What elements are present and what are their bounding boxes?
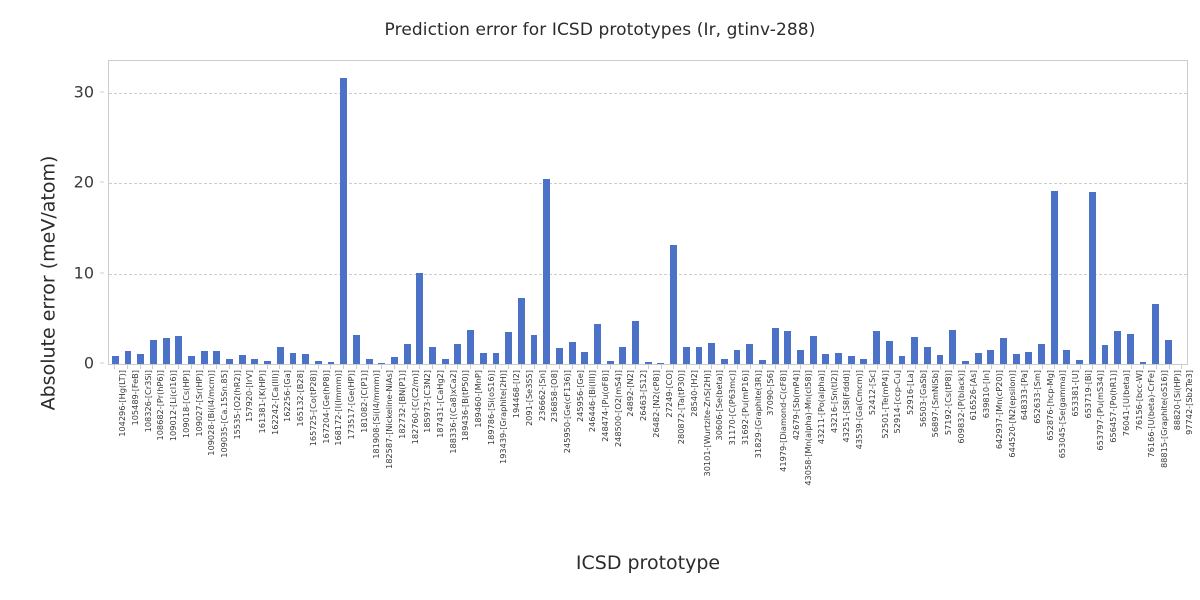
bar[interactable] bbox=[163, 338, 170, 364]
bar-slot bbox=[540, 61, 553, 364]
bar-slot bbox=[642, 61, 655, 364]
x-tick-mark bbox=[699, 365, 700, 369]
x-tick-slot: 189460-[MnP] bbox=[464, 365, 477, 525]
x-tick-mark bbox=[838, 365, 839, 369]
bar-slot bbox=[908, 61, 921, 364]
bar[interactable] bbox=[429, 347, 436, 364]
x-tick-slot: 280872-[Ta(tP30)] bbox=[667, 365, 680, 525]
bar-slot bbox=[1111, 61, 1124, 364]
x-tick-slot: 24892-[N2] bbox=[616, 365, 629, 525]
bar[interactable] bbox=[987, 350, 994, 364]
bar[interactable] bbox=[1114, 331, 1121, 364]
bar-slot bbox=[325, 61, 338, 364]
x-tick-mark bbox=[1156, 365, 1157, 369]
x-tick-mark bbox=[724, 365, 725, 369]
x-tick-mark bbox=[1016, 365, 1017, 369]
bar[interactable] bbox=[683, 347, 690, 364]
x-tick-mark bbox=[419, 365, 420, 369]
y-tick-label: 10 bbox=[74, 263, 94, 282]
bar[interactable] bbox=[150, 340, 157, 364]
x-tick-slot: 43251-[S8(Fddd)] bbox=[832, 365, 845, 525]
bar-slot bbox=[198, 61, 211, 364]
x-tick-slot: 52914-[ccp-Cu] bbox=[883, 365, 896, 525]
x-tick-mark bbox=[584, 365, 585, 369]
x-tick-slot: 653797-[Pu(mS34)] bbox=[1086, 365, 1099, 525]
x-tick-mark bbox=[546, 365, 547, 369]
y-tick-label: 30 bbox=[74, 82, 94, 101]
x-tick-slot: 30101-[Wurtzite-ZnS(2H)] bbox=[692, 365, 705, 525]
bar[interactable] bbox=[239, 355, 246, 364]
bar-slot bbox=[1048, 61, 1061, 364]
bar[interactable] bbox=[886, 341, 893, 364]
x-tick-slot: 161381-[K(HP)] bbox=[248, 365, 261, 525]
x-tick-mark bbox=[1143, 365, 1144, 369]
x-tick-mark bbox=[534, 365, 535, 369]
x-tick-slot: 76041-[U(beta)] bbox=[1112, 365, 1125, 525]
x-tick-slot: 2091-[Se3S5] bbox=[515, 365, 528, 525]
bar-series bbox=[109, 61, 1187, 364]
bar[interactable] bbox=[1063, 350, 1070, 364]
bar[interactable] bbox=[404, 344, 411, 364]
bar[interactable] bbox=[784, 331, 791, 364]
bar-slot bbox=[1086, 61, 1099, 364]
x-tick-mark bbox=[661, 365, 662, 369]
bar-slot bbox=[946, 61, 959, 364]
x-tick-mark bbox=[368, 365, 369, 369]
bar-slot bbox=[680, 61, 693, 364]
bar-slot bbox=[211, 61, 224, 364]
bar[interactable] bbox=[581, 352, 588, 364]
bar-slot bbox=[350, 61, 363, 364]
x-tick-mark bbox=[635, 365, 636, 369]
bar[interactable] bbox=[708, 343, 715, 364]
x-tick-slot: 108326-[Cr3Si] bbox=[133, 365, 146, 525]
bar-slot bbox=[414, 61, 427, 364]
x-tick-mark bbox=[915, 365, 916, 369]
bar-slot bbox=[261, 61, 274, 364]
bar[interactable] bbox=[949, 330, 956, 364]
bar[interactable] bbox=[860, 359, 867, 364]
bar[interactable] bbox=[1013, 354, 1020, 364]
bar-slot bbox=[312, 61, 325, 364]
x-tick-mark bbox=[622, 365, 623, 369]
x-tick-slot: 56897-[SmNiSb] bbox=[921, 365, 934, 525]
x-tick-slot: 182760-[C(C2/m)] bbox=[400, 365, 413, 525]
y-tick-label: 0 bbox=[84, 354, 94, 373]
chart-figure: Prediction error for ICSD prototypes (Ir… bbox=[0, 0, 1200, 600]
x-tick-slot: 105489-[FeB] bbox=[121, 365, 134, 525]
bar[interactable] bbox=[480, 353, 487, 364]
bar[interactable] bbox=[759, 360, 766, 364]
x-tick-slot: 246446-[Bi(III)] bbox=[578, 365, 591, 525]
bar-slot bbox=[134, 61, 147, 364]
x-tick-mark bbox=[203, 365, 204, 369]
x-tick-slot: 56503-[GaSb] bbox=[908, 365, 921, 525]
x-tick-mark bbox=[254, 365, 255, 369]
x-tick-mark bbox=[508, 365, 509, 369]
bar-slot bbox=[1099, 61, 1112, 364]
bar[interactable] bbox=[1089, 192, 1096, 364]
x-tick-mark bbox=[559, 365, 560, 369]
x-tick-slot: 15535-[O2(hR2)] bbox=[222, 365, 235, 525]
x-tick-slot: 236858-[O8] bbox=[540, 365, 553, 525]
x-tick-slot: 165132-[B28] bbox=[286, 365, 299, 525]
x-tick-mark bbox=[762, 365, 763, 369]
bar[interactable] bbox=[569, 342, 576, 364]
bar-slot bbox=[984, 61, 997, 364]
x-tick-mark bbox=[229, 365, 230, 369]
x-tick-slot: 245956-[Ge] bbox=[565, 365, 578, 525]
bar[interactable] bbox=[911, 337, 918, 364]
x-tick-mark bbox=[445, 365, 446, 369]
bar[interactable] bbox=[1025, 352, 1032, 364]
bar[interactable] bbox=[822, 354, 829, 364]
x-tick-slot: 653381-[U] bbox=[1061, 365, 1074, 525]
bar[interactable] bbox=[1038, 344, 1045, 364]
x-tick-mark bbox=[1067, 365, 1068, 369]
bar-slot bbox=[490, 61, 503, 364]
x-tick-slot: 109018-[Cs(HP)] bbox=[172, 365, 185, 525]
bar[interactable] bbox=[366, 359, 373, 364]
x-tick-slot: 42679-[Sb(mP4)] bbox=[781, 365, 794, 525]
x-tick-mark bbox=[1181, 365, 1182, 369]
bar[interactable] bbox=[137, 354, 144, 364]
bar[interactable] bbox=[937, 355, 944, 364]
x-tick-mark bbox=[750, 365, 751, 369]
bar-slot bbox=[109, 61, 122, 364]
bar-slot bbox=[794, 61, 807, 364]
bar[interactable] bbox=[442, 359, 449, 364]
y-tick-mark bbox=[100, 91, 104, 92]
bar-slot bbox=[972, 61, 985, 364]
x-tick-slot: 109028-[Bi(I4/mcm)] bbox=[197, 365, 210, 525]
bar-slot bbox=[566, 61, 579, 364]
x-tick-slot: 656457-[Po(hR1)] bbox=[1099, 365, 1112, 525]
x-tick-slot: 248500-[O2(mS4)] bbox=[603, 365, 616, 525]
bar-slot bbox=[147, 61, 160, 364]
bar-slot bbox=[667, 61, 680, 364]
x-tick-slot: 109027-[Sr(HP)] bbox=[184, 365, 197, 525]
x-tick-slot: 97742-[Sb2Te3] bbox=[1175, 365, 1188, 525]
x-tick-mark bbox=[864, 365, 865, 369]
bar[interactable] bbox=[1152, 304, 1159, 364]
x-tick-slot: 26482-[N2(cP8)] bbox=[642, 365, 655, 525]
x-tick-slot: 37090-[S6] bbox=[756, 365, 769, 525]
bar[interactable] bbox=[632, 321, 639, 364]
x-tick-slot: 609832-[P(black)] bbox=[946, 365, 959, 525]
x-tick-slot: 162242-[Ca(III)] bbox=[260, 365, 273, 525]
x-tick-slot: 652633-[Sm] bbox=[1023, 365, 1036, 525]
x-tick-mark bbox=[851, 365, 852, 369]
x-tick-mark bbox=[495, 365, 496, 369]
bar-slot bbox=[477, 61, 490, 364]
x-tick-mark bbox=[673, 365, 674, 369]
bar-slot bbox=[655, 61, 668, 364]
x-tick-mark bbox=[470, 365, 471, 369]
x-tick-mark bbox=[165, 365, 166, 369]
bar[interactable] bbox=[746, 344, 753, 364]
bar[interactable] bbox=[201, 351, 208, 364]
x-tick-mark bbox=[1054, 365, 1055, 369]
x-tick-mark bbox=[521, 365, 522, 369]
x-tick-slot: 88815-[Graphite(oS16)] bbox=[1150, 365, 1163, 525]
bar[interactable] bbox=[277, 347, 284, 364]
x-tick-slot: 31829-[Graphite(3R)] bbox=[743, 365, 756, 525]
bar-slot bbox=[299, 61, 312, 364]
bar[interactable] bbox=[112, 356, 119, 364]
bar[interactable] bbox=[213, 351, 220, 364]
bar-slot bbox=[934, 61, 947, 364]
x-tick-slot: 52916-[La] bbox=[896, 365, 909, 525]
bar[interactable] bbox=[848, 356, 855, 364]
bar[interactable] bbox=[1140, 362, 1147, 364]
x-tick-slot: 642937-[Mn(cP20)] bbox=[985, 365, 998, 525]
bar-slot bbox=[807, 61, 820, 364]
bar-slot bbox=[172, 61, 185, 364]
x-tick-slot: 31692-[Pu(mP16)] bbox=[730, 365, 743, 525]
x-tick-slot: 189786-[Si(oS16)] bbox=[476, 365, 489, 525]
bar[interactable] bbox=[835, 353, 842, 364]
y-tick-mark bbox=[100, 272, 104, 273]
bar[interactable] bbox=[924, 347, 931, 364]
bar[interactable] bbox=[1165, 340, 1172, 364]
y-tick-label: 20 bbox=[74, 173, 94, 192]
bar[interactable] bbox=[810, 336, 817, 364]
bar[interactable] bbox=[797, 350, 804, 364]
bar-slot bbox=[604, 61, 617, 364]
bar[interactable] bbox=[188, 356, 195, 364]
x-tick-slot: 162256-[Ga] bbox=[273, 365, 286, 525]
x-tick-mark bbox=[610, 365, 611, 369]
x-tick-slot: 182732-[BN(P1)] bbox=[387, 365, 400, 525]
bar-slot bbox=[1124, 61, 1137, 364]
y-tick-mark bbox=[100, 182, 104, 183]
x-tick-mark bbox=[356, 365, 357, 369]
x-tick-slot: 27249-[CO] bbox=[654, 365, 667, 525]
x-tick-mark bbox=[318, 365, 319, 369]
bar[interactable] bbox=[315, 361, 322, 364]
bar[interactable] bbox=[226, 359, 233, 364]
bar[interactable] bbox=[531, 335, 538, 364]
bar[interactable] bbox=[493, 353, 500, 364]
x-tick-mark bbox=[457, 365, 458, 369]
bar[interactable] bbox=[454, 344, 461, 364]
bar[interactable] bbox=[899, 356, 906, 364]
x-tick-mark bbox=[1029, 365, 1030, 369]
x-tick-mark bbox=[1004, 365, 1005, 369]
bar-slot bbox=[363, 61, 376, 364]
bar[interactable] bbox=[264, 361, 271, 364]
x-tick-slot: 187431-[CaHg2] bbox=[426, 365, 439, 525]
x-tick-mark bbox=[953, 365, 954, 369]
x-axis: 104296-[Hg(LT)]105489-[FeB]108326-[Cr3Si… bbox=[108, 365, 1188, 525]
x-tick-mark bbox=[127, 365, 128, 369]
x-tick-slot: 157920-[IrV] bbox=[235, 365, 248, 525]
bar[interactable] bbox=[1076, 360, 1083, 364]
x-tick-slot: 109035-[Ca.15Sn.85] bbox=[210, 365, 223, 525]
y-tick-mark bbox=[100, 363, 104, 364]
bar[interactable] bbox=[607, 361, 614, 364]
bar-slot bbox=[591, 61, 604, 364]
bar-slot bbox=[236, 61, 249, 364]
x-tick-mark bbox=[191, 365, 192, 369]
x-tick-mark bbox=[216, 365, 217, 369]
x-tick-slot: 181082-[C(P1)] bbox=[349, 365, 362, 525]
bar-slot bbox=[832, 61, 845, 364]
bar[interactable] bbox=[657, 363, 664, 364]
bar-slot bbox=[426, 61, 439, 364]
x-tick-slot: 189436-[B(tP50)] bbox=[451, 365, 464, 525]
bar-slot bbox=[870, 61, 883, 364]
bar[interactable] bbox=[505, 332, 512, 364]
x-tick-slot: 188336-[(Ca8)xCa2] bbox=[438, 365, 451, 525]
bar[interactable] bbox=[696, 347, 703, 364]
x-tick-slot: 194468-[I2] bbox=[502, 365, 515, 525]
chart-title: Prediction error for ICSD prototypes (Ir… bbox=[0, 20, 1200, 40]
bar[interactable] bbox=[670, 245, 677, 364]
x-tick-slot: 28540-[H2] bbox=[680, 365, 693, 525]
x-tick-mark bbox=[152, 365, 153, 369]
bar[interactable] bbox=[391, 357, 398, 364]
bar-slot bbox=[858, 61, 871, 364]
bar-slot bbox=[883, 61, 896, 364]
x-tick-slot: 108682-[Pr(hP6)] bbox=[146, 365, 159, 525]
x-tick-mark bbox=[330, 365, 331, 369]
bar-slot bbox=[756, 61, 769, 364]
x-tick-slot: 173517-[Ge(HP)] bbox=[337, 365, 350, 525]
x-tick-label: 97742-[Sb2Te3] bbox=[1184, 370, 1194, 435]
bar[interactable] bbox=[1102, 345, 1109, 364]
x-tick-mark bbox=[1131, 365, 1132, 369]
x-tick-mark bbox=[1042, 365, 1043, 369]
x-tick-slot: 43216-[Sn(tI2)] bbox=[819, 365, 832, 525]
x-tick-slot: 31170-[C(P63mc)] bbox=[718, 365, 731, 525]
y-axis: Absolute error (meV/atom) 0102030 bbox=[0, 60, 104, 365]
x-tick-mark bbox=[1080, 365, 1081, 369]
x-tick-slot: 109012-[Li(cI16)] bbox=[159, 365, 172, 525]
bar[interactable] bbox=[467, 330, 474, 364]
bar-slot bbox=[274, 61, 287, 364]
bar-slot bbox=[1149, 61, 1162, 364]
x-tick-mark bbox=[813, 365, 814, 369]
bar-slot bbox=[553, 61, 566, 364]
bar-slot bbox=[122, 61, 135, 364]
bar[interactable] bbox=[975, 353, 982, 364]
x-tick-mark bbox=[877, 365, 878, 369]
bar[interactable] bbox=[302, 354, 309, 364]
bar-slot bbox=[375, 61, 388, 364]
bar-slot bbox=[401, 61, 414, 364]
x-tick-mark bbox=[178, 365, 179, 369]
bar-slot bbox=[845, 61, 858, 364]
bar[interactable] bbox=[734, 350, 741, 364]
bar-slot bbox=[743, 61, 756, 364]
x-tick-slot: 653719-[Bi] bbox=[1073, 365, 1086, 525]
bar[interactable] bbox=[175, 336, 182, 364]
bar[interactable] bbox=[619, 347, 626, 364]
bar[interactable] bbox=[1127, 334, 1134, 364]
x-tick-mark bbox=[902, 365, 903, 369]
bar[interactable] bbox=[353, 335, 360, 364]
bar[interactable] bbox=[1000, 338, 1007, 364]
x-tick-mark bbox=[927, 365, 928, 369]
bar[interactable] bbox=[962, 361, 969, 364]
x-tick-slot: 248474-[Pu(oF8)] bbox=[591, 365, 604, 525]
bar-slot bbox=[617, 61, 630, 364]
x-tick-mark bbox=[394, 365, 395, 369]
bar-slot bbox=[1073, 61, 1086, 364]
bar-slot bbox=[769, 61, 782, 364]
x-tick-slot: 168172-[I(Immm)] bbox=[324, 365, 337, 525]
x-tick-slot: 639810-[In] bbox=[972, 365, 985, 525]
x-tick-mark bbox=[305, 365, 306, 369]
bar[interactable] bbox=[251, 359, 258, 364]
bar[interactable] bbox=[772, 328, 779, 364]
bar-slot bbox=[464, 61, 477, 364]
bar[interactable] bbox=[543, 179, 550, 364]
y-axis-label: Absolute error (meV/atom) bbox=[38, 131, 60, 436]
bar-slot bbox=[1061, 61, 1074, 364]
x-tick-mark bbox=[711, 365, 712, 369]
bar-slot bbox=[705, 61, 718, 364]
x-tick-slot: 26463-[S12] bbox=[629, 365, 642, 525]
bar[interactable] bbox=[594, 324, 601, 364]
bar[interactable] bbox=[290, 353, 297, 364]
bar-slot bbox=[287, 61, 300, 364]
x-tick-slot: 43058-[Mn(alpha)-Mn(cI58)] bbox=[794, 365, 807, 525]
bar-slot bbox=[959, 61, 972, 364]
x-tick-slot: 185973-[C3N2] bbox=[413, 365, 426, 525]
x-tick-mark bbox=[343, 365, 344, 369]
x-tick-mark bbox=[686, 365, 687, 369]
x-tick-mark bbox=[965, 365, 966, 369]
bar-slot bbox=[388, 61, 401, 364]
bar-slot bbox=[223, 61, 236, 364]
bar[interactable] bbox=[125, 351, 132, 364]
bar[interactable] bbox=[518, 298, 525, 364]
bar-slot bbox=[1175, 61, 1188, 364]
bar-slot bbox=[1035, 61, 1048, 364]
x-tick-mark bbox=[940, 365, 941, 369]
x-tick-slot: 182587-[Nickeline-NiAs] bbox=[375, 365, 388, 525]
bar-slot bbox=[249, 61, 262, 364]
bar-slot bbox=[185, 61, 198, 364]
x-tick-slot: 57192-[Cs(tP8)] bbox=[934, 365, 947, 525]
x-tick-mark bbox=[432, 365, 433, 369]
bar-slot bbox=[337, 61, 350, 364]
bar-slot bbox=[1010, 61, 1023, 364]
bar[interactable] bbox=[556, 348, 563, 364]
bar[interactable] bbox=[416, 273, 423, 364]
bar-slot bbox=[896, 61, 909, 364]
x-axis-label: ICSD prototype bbox=[108, 552, 1188, 574]
x-tick-mark bbox=[407, 365, 408, 369]
x-tick-mark bbox=[114, 365, 115, 369]
x-tick-mark bbox=[597, 365, 598, 369]
bar[interactable] bbox=[1051, 191, 1058, 364]
bar-slot bbox=[1162, 61, 1175, 364]
x-tick-slot: 52501-[Te(mP4)] bbox=[870, 365, 883, 525]
bar[interactable] bbox=[873, 331, 880, 364]
bar[interactable] bbox=[328, 362, 335, 364]
bar[interactable] bbox=[645, 362, 652, 364]
x-tick-mark bbox=[483, 365, 484, 369]
x-tick-mark bbox=[241, 365, 242, 369]
bar[interactable] bbox=[721, 359, 728, 364]
x-tick-mark bbox=[1105, 365, 1106, 369]
bar[interactable] bbox=[378, 363, 385, 364]
bar[interactable] bbox=[340, 78, 347, 364]
